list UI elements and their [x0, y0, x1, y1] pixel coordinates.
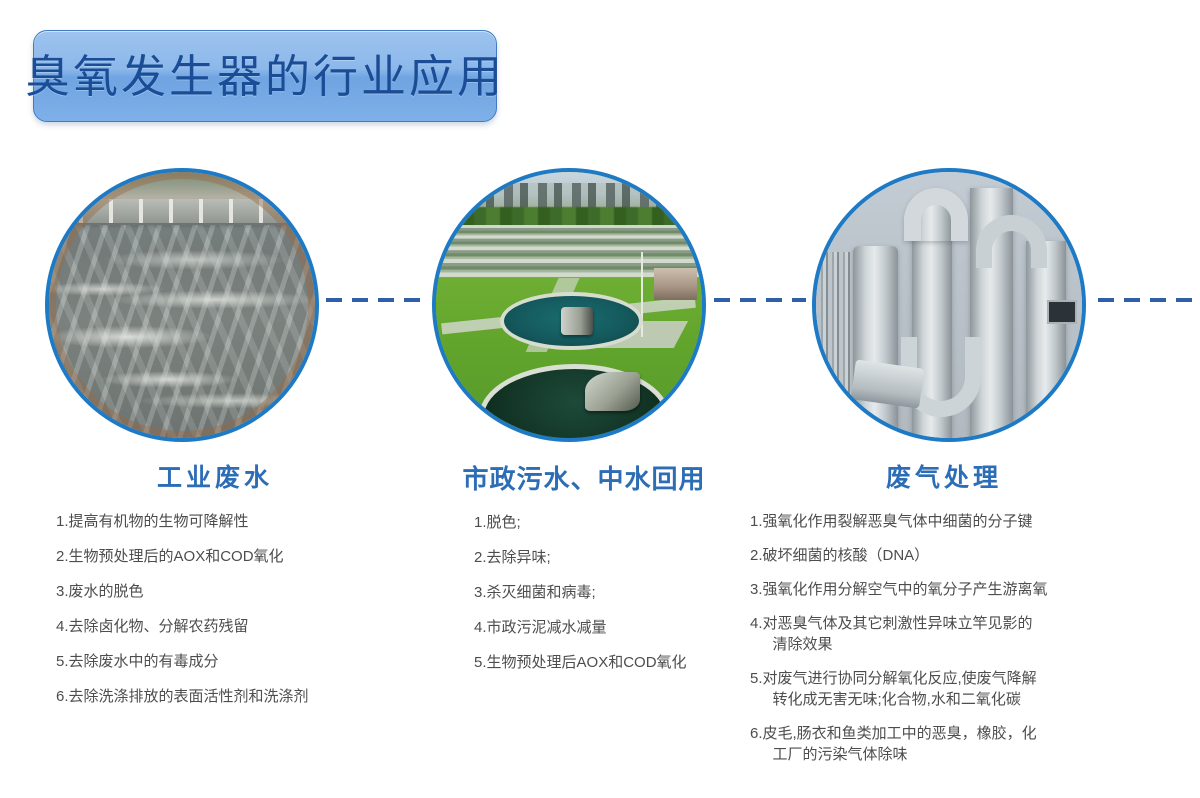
- column-exhaust-gas: 废气处理 1. 强氧化作用裂解恶臭气体中细菌的分子键 2. 破坏细菌的核酸（DN…: [744, 466, 1144, 778]
- list-item: 6. 去除洗涤排放的表面活性剂和洗涤剂: [56, 686, 390, 707]
- photo-circle-municipal-wastewater: [432, 168, 706, 442]
- item-text: 去除废水中的有毒成分: [69, 651, 390, 672]
- item-list-municipal-wastewater: 1. 脱色; 2. 去除异味; 3. 杀灭细菌和病毒; 4. 市政污泥减水减量 …: [424, 512, 744, 673]
- item-text: 强氧化作用分解空气中的氧分子产生游离氧: [763, 579, 1144, 600]
- item-number: 3.: [474, 582, 487, 603]
- list-item: 3. 废水的脱色: [56, 581, 390, 602]
- list-item: 3. 杀灭细菌和病毒;: [474, 582, 744, 603]
- list-item: 5. 去除废水中的有毒成分: [56, 651, 390, 672]
- list-item: 2. 去除异味;: [474, 547, 744, 568]
- item-text: 去除卤化物、分解农药残留: [69, 616, 390, 637]
- list-item: 3. 强氧化作用分解空气中的氧分子产生游离氧: [750, 579, 1144, 600]
- item-number: 1.: [56, 511, 69, 532]
- exhaust-gas-image: [816, 172, 1082, 438]
- duct-vertical-4: [1026, 241, 1066, 438]
- item-text: 强氧化作用裂解恶臭气体中细菌的分子键: [763, 511, 1144, 532]
- item-text: 破坏细菌的核酸（DNA）: [763, 545, 1144, 566]
- item-number: 5.: [56, 651, 69, 672]
- item-text: 废水的脱色: [69, 581, 390, 602]
- item-text: 脱色;: [487, 512, 744, 533]
- list-item: 5. 生物预处理后AOX和COD氧化: [474, 652, 744, 673]
- item-number: 1.: [474, 512, 487, 533]
- item-text-line2: 工厂的污染气体除味: [763, 744, 1144, 765]
- list-item: 2. 破坏细菌的核酸（DNA）: [750, 545, 1144, 566]
- item-text: 去除异味;: [487, 547, 744, 568]
- connector-circle2-circle3: [714, 298, 806, 302]
- item-number: 4.: [474, 617, 487, 638]
- item-list-exhaust-gas: 1. 强氧化作用裂解恶臭气体中细菌的分子键 2. 破坏细菌的核酸（DNA） 3.…: [744, 511, 1144, 765]
- plant-building: [654, 268, 697, 300]
- item-text: 杀灭细菌和病毒;: [487, 582, 744, 603]
- item-number: 3.: [750, 579, 763, 600]
- connector-circle3-offscreen: [1098, 298, 1200, 302]
- item-number: 1.: [750, 511, 763, 532]
- list-item: 1. 提高有机物的生物可降解性: [56, 511, 390, 532]
- item-number: 2.: [474, 547, 487, 568]
- clarifier-tank-upper: [500, 292, 644, 351]
- item-number: 6.: [56, 686, 69, 707]
- list-item: 4. 去除卤化物、分解农药残留: [56, 616, 390, 637]
- control-panel: [1047, 300, 1076, 324]
- column-heading-exhaust-gas: 废气处理: [744, 466, 1144, 491]
- item-text-line1: 对恶臭气体及其它刺激性异味立竿见影的: [763, 615, 1033, 632]
- item-text-line1: 皮毛,肠衣和鱼类加工中的恶臭，橡胶，化: [763, 725, 1037, 742]
- item-text: 对废气进行协同分解氧化反应,使废气降解 转化成无害无味;化合物,水和二氧化碳: [763, 668, 1144, 710]
- list-item: 5. 对废气进行协同分解氧化反应,使废气降解 转化成无害无味;化合物,水和二氧化…: [750, 668, 1144, 710]
- item-number: 6.: [750, 723, 763, 744]
- photo-circle-industrial-wastewater: [45, 168, 319, 442]
- item-number: 2.: [56, 546, 69, 567]
- duct-vertical-1: [853, 246, 898, 438]
- item-number: 5.: [750, 668, 763, 689]
- photo-circle-exhaust-gas: [812, 168, 1086, 442]
- column-industrial-wastewater: 工业废水 1. 提高有机物的生物可降解性 2. 生物预处理后的AOX和COD氧化…: [40, 466, 390, 721]
- column-heading-industrial-wastewater: 工业废水: [40, 466, 390, 491]
- item-text: 生物预处理后的AOX和COD氧化: [69, 546, 390, 567]
- column-municipal-wastewater: 市政污水、中水回用 1. 脱色; 2. 去除异味; 3. 杀灭细菌和病毒; 4.…: [424, 466, 744, 687]
- list-item: 4. 对恶臭气体及其它刺激性异味立竿见影的 清除效果: [750, 613, 1144, 655]
- pipe-rack: [821, 252, 856, 406]
- item-text-line2: 转化成无害无味;化合物,水和二氧化碳: [763, 689, 1144, 710]
- item-list-industrial-wastewater: 1. 提高有机物的生物可降解性 2. 生物预处理后的AOX和COD氧化 3. 废…: [40, 511, 390, 707]
- item-text: 生物预处理后AOX和COD氧化: [487, 652, 744, 673]
- item-number: 4.: [56, 616, 69, 637]
- item-text: 皮毛,肠衣和鱼类加工中的恶臭，橡胶，化 工厂的污染气体除味: [763, 723, 1144, 765]
- basin-rim: [49, 172, 315, 438]
- page-title-box: 臭氧发生器的行业应用: [33, 30, 497, 122]
- item-text: 去除洗涤排放的表面活性剂和洗涤剂: [69, 686, 390, 707]
- list-item: 6. 皮毛,肠衣和鱼类加工中的恶臭，橡胶，化 工厂的污染气体除味: [750, 723, 1144, 765]
- item-text: 市政污泥减水减量: [487, 617, 744, 638]
- column-heading-municipal-wastewater: 市政污水、中水回用: [424, 466, 744, 492]
- page-title: 臭氧发生器的行业应用: [25, 54, 505, 99]
- item-text: 提高有机物的生物可降解性: [69, 511, 390, 532]
- list-item: 4. 市政污泥减水减量: [474, 617, 744, 638]
- list-item: 1. 强氧化作用裂解恶臭气体中细菌的分子键: [750, 511, 1144, 532]
- list-item: 1. 脱色;: [474, 512, 744, 533]
- item-number: 3.: [56, 581, 69, 602]
- item-text: 对恶臭气体及其它刺激性异味立竿见影的 清除效果: [763, 613, 1144, 655]
- list-item: 2. 生物预处理后的AOX和COD氧化: [56, 546, 390, 567]
- item-text-line1: 对废气进行协同分解氧化反应,使废气降解: [763, 670, 1037, 687]
- item-number: 5.: [474, 652, 487, 673]
- connector-circle1-circle2: [326, 298, 426, 302]
- item-number: 2.: [750, 545, 763, 566]
- item-number: 4.: [750, 613, 763, 634]
- municipal-plant-image: [436, 172, 702, 438]
- item-text-line2: 清除效果: [763, 634, 1144, 655]
- duct-elbow-1: [904, 188, 968, 241]
